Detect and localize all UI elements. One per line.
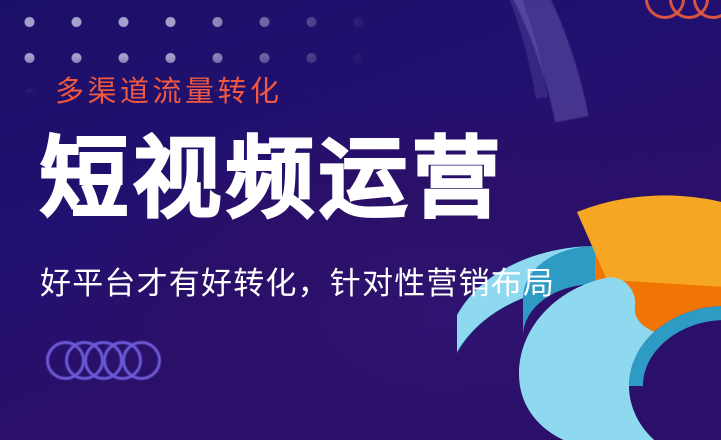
banner-headline: 短视频运营 bbox=[40, 131, 505, 227]
banner-subline: 好平台才有好转化，针对性营销布局 bbox=[40, 258, 555, 303]
banner-text-block: 多渠道流量转化 短视频运营 好平台才有好转化，针对性营销布局 bbox=[0, 0, 721, 440]
banner-eyebrow: 多渠道流量转化 bbox=[55, 68, 283, 110]
promo-banner: 多渠道流量转化 短视频运营 好平台才有好转化，针对性营销布局 bbox=[0, 0, 721, 440]
